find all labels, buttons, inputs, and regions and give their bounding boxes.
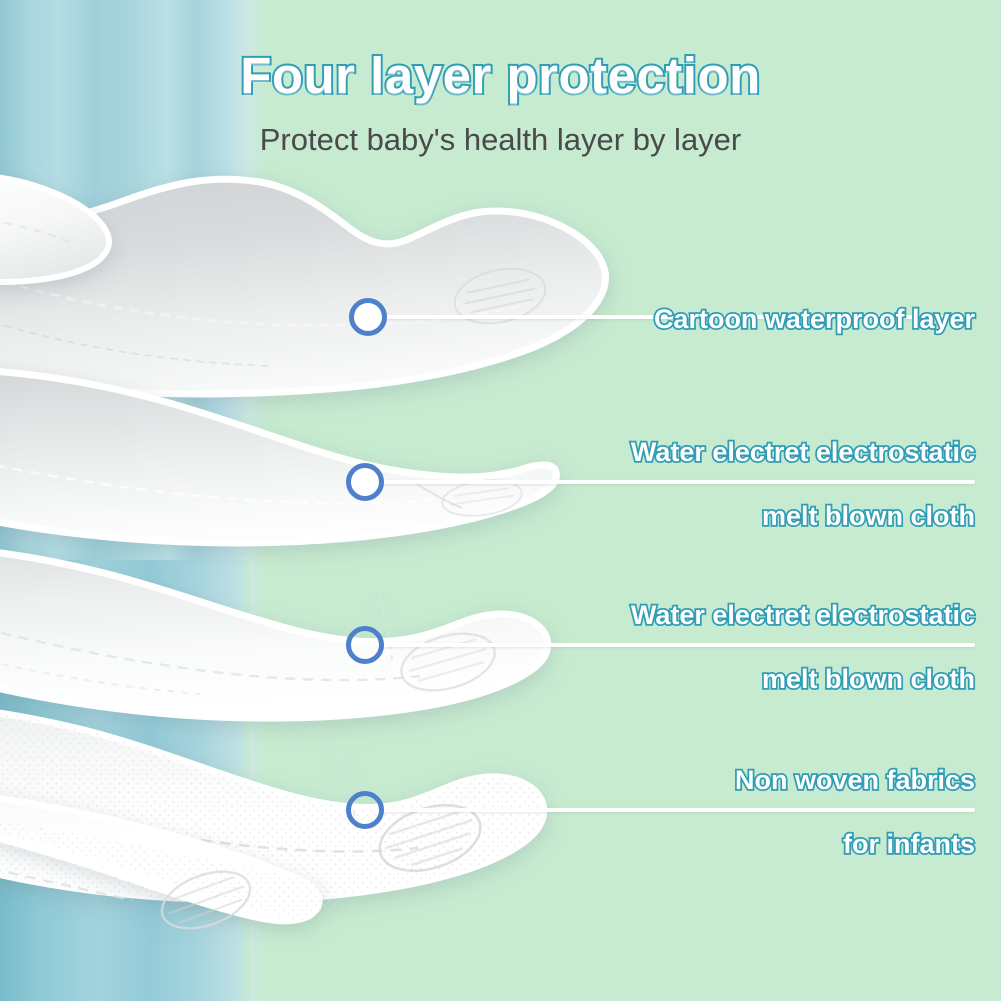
- callout-label-4: Non woven fabrics for infants: [735, 733, 975, 892]
- callout-label-1: Cartoon waterproof layer: [654, 272, 975, 368]
- callout-label-2-line-2: melt blown cloth: [631, 501, 975, 533]
- page-subtitle: Protect baby's health layer by layer: [0, 122, 1001, 158]
- callout-label-3-line-1: Water electret electrostatic: [631, 600, 975, 632]
- callout-label-3: Water electret electrostatic melt blown …: [631, 568, 975, 727]
- callout-label-4-line-1: Non woven fabrics: [735, 765, 975, 797]
- callout-label-2: Water electret electrostatic melt blown …: [631, 405, 975, 564]
- callout-marker-1[interactable]: [349, 298, 387, 336]
- callout-label-1-line-1: Cartoon waterproof layer: [654, 304, 975, 336]
- callout-label-2-line-1: Water electret electrostatic: [631, 437, 975, 469]
- infographic-canvas: Four layer protection Protect baby's hea…: [0, 0, 1001, 1001]
- page-title: Four layer protection: [0, 46, 1001, 105]
- mask-layer-edge-sliver: [0, 160, 170, 390]
- callout-marker-4[interactable]: [346, 791, 384, 829]
- mask-layer-4-corner: [0, 800, 390, 1001]
- callout-label-3-line-2: melt blown cloth: [631, 664, 975, 696]
- callout-label-4-line-2: for infants: [735, 829, 975, 861]
- callout-marker-3[interactable]: [346, 626, 384, 664]
- callout-marker-2[interactable]: [346, 463, 384, 501]
